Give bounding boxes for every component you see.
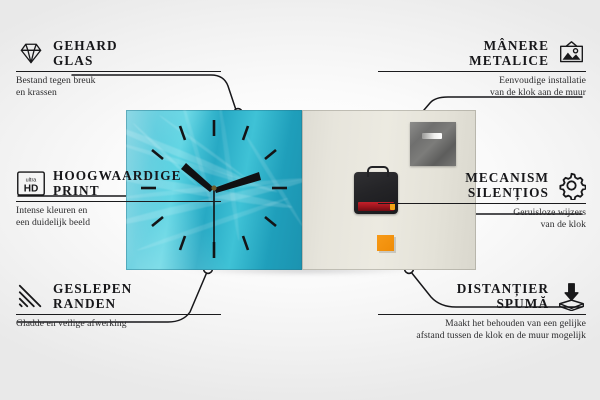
feature-subtitle: Intense kleuren en een duidelijk beeld — [16, 205, 221, 228]
infographic-canvas: GEHARD GLAS Bestand tegen breuk en krass… — [0, 0, 600, 400]
feature-manere-metalice: MÂNERE METALICE Eenvoudige installatie v… — [378, 38, 586, 99]
feature-hoogwaardige-print: ultra HD HOOGWAARDIGE PRINT Intense kleu… — [16, 168, 221, 229]
metal-hanger-plate — [410, 122, 456, 166]
feature-title: GEHARD GLAS — [53, 38, 118, 68]
feature-underline — [16, 71, 221, 72]
feature-underline — [378, 314, 586, 315]
picture-hanger-icon — [556, 38, 586, 68]
feature-mecanism-silentios: MECANISM SILENȚIOS Geruisloze wijzers va… — [378, 170, 586, 231]
feature-underline — [378, 71, 586, 72]
feature-title: DISTANȚIER SPUMĂ — [457, 281, 549, 311]
feature-geslepen-randen: GESLEPEN RANDEN Gladde en veilige afwerk… — [16, 281, 221, 330]
feature-subtitle: Bestand tegen breuk en krassen — [16, 75, 221, 98]
feature-title: MÂNERE METALICE — [469, 38, 549, 68]
feature-subtitle: Geruisloze wijzers van de klok — [378, 207, 586, 230]
feature-distantier-spuma: DISTANȚIER SPUMĂ Maakt het behouden van … — [378, 281, 586, 342]
gear-icon — [556, 170, 586, 200]
feature-subtitle: Maakt het behouden van een gelijke afsta… — [356, 318, 586, 341]
foam-spacer-arrow-icon — [556, 281, 586, 311]
diamond-icon — [16, 38, 46, 68]
diagonal-lines-icon — [16, 281, 46, 311]
feature-subtitle: Gladde en veilige afwerking — [16, 318, 221, 330]
feature-underline — [16, 201, 221, 202]
feature-title: MECANISM SILENȚIOS — [465, 170, 549, 200]
feature-subtitle: Eenvoudige installatie van de klok aan d… — [378, 75, 586, 98]
minute-hand — [214, 172, 261, 193]
feature-underline — [378, 203, 586, 204]
svg-text:HD: HD — [24, 183, 39, 194]
feature-title: HOOGWAARDIGE PRINT — [53, 168, 182, 198]
ultra-hd-icon: ultra HD — [16, 168, 46, 198]
orange-foam-spacer — [377, 235, 394, 251]
feature-underline — [16, 314, 221, 315]
feature-gehard-glas: GEHARD GLAS Bestand tegen breuk en krass… — [16, 38, 221, 99]
feature-title: GESLEPEN RANDEN — [53, 281, 132, 311]
